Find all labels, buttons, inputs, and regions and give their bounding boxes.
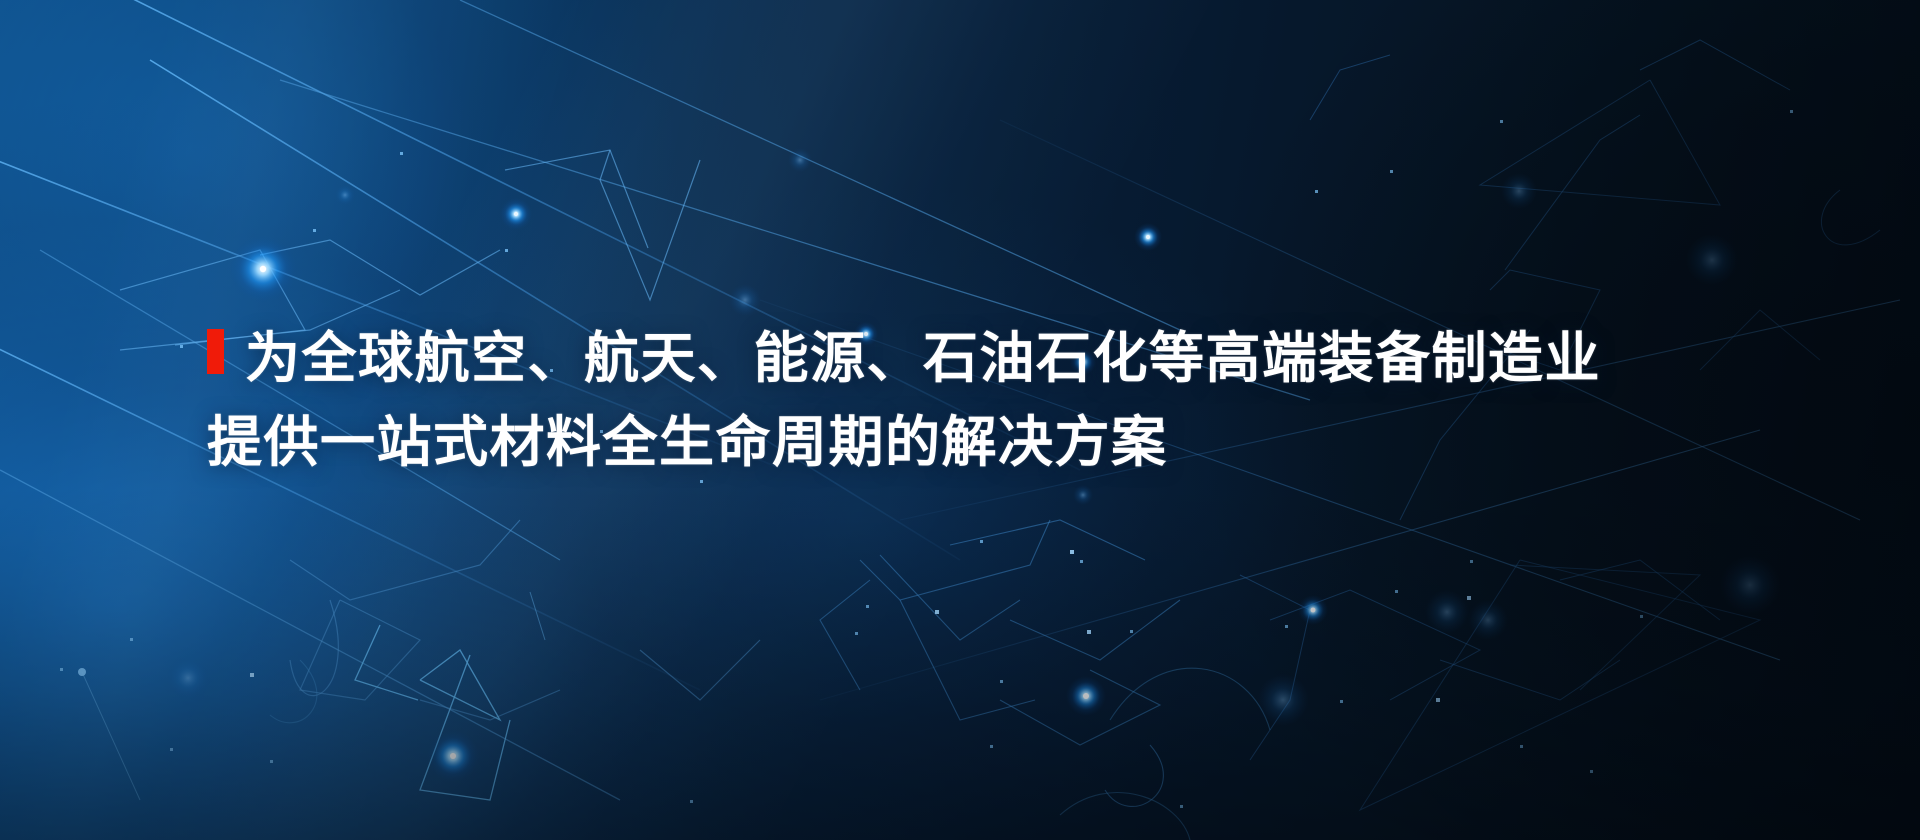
headline-lines: 为全球航空、航天、能源、石油石化等高端装备制造业 提供一站式材料全生命周期的解决… — [245, 316, 1767, 484]
banner-hero: 为全球航空、航天、能源、石油石化等高端装备制造业 提供一站式材料全生命周期的解决… — [0, 0, 1920, 840]
headline-line-1: 为全球航空、航天、能源、石油石化等高端装备制造业 — [245, 316, 1767, 400]
headline-line-2: 提供一站式材料全生命周期的解决方案 — [207, 400, 1767, 484]
accent-bar — [207, 329, 224, 374]
headline-block: 为全球航空、航天、能源、石油石化等高端装备制造业 提供一站式材料全生命周期的解决… — [207, 316, 1767, 484]
